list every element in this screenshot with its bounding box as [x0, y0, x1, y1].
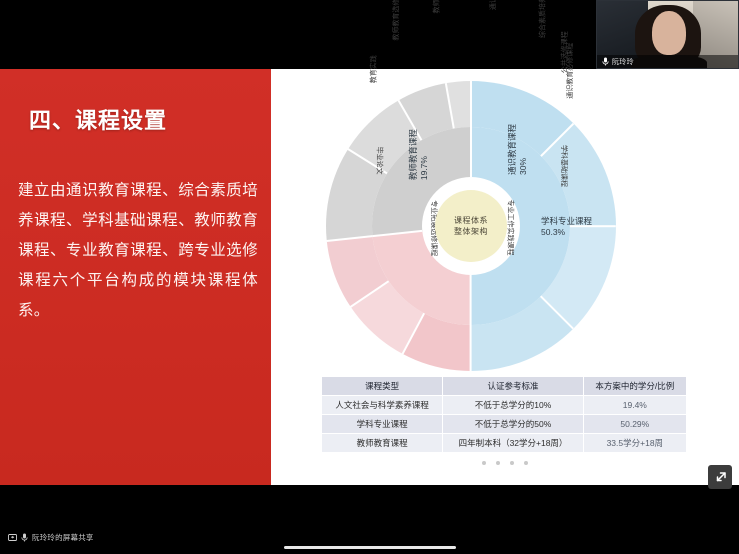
slide-right-panel: 学科基础课程 专业工作实践课程 专业拓展选修课程 毕业论文 教育实践 教师教育选…	[271, 69, 739, 485]
table-row: 教师教育课程 四年制本科（32学分+18周） 33.5学分+18周	[322, 434, 687, 453]
course-system-sunburst-chart: 学科基础课程 专业工作实践课程 专业拓展选修课程 毕业论文 教育实践 教师教育选…	[326, 81, 616, 371]
sunburst-center-hub: 课程体系 整体架构	[435, 190, 507, 262]
table-cell-r0c2: 19.4%	[583, 396, 686, 415]
table-header-cell-0: 课程类型	[322, 377, 443, 396]
expand-arrow-icon[interactable]	[708, 465, 732, 489]
share-status[interactable]: 阮玲玲的屏幕共享	[8, 532, 94, 543]
microphone-icon	[602, 57, 609, 66]
pager-dot-2[interactable]	[510, 461, 514, 465]
slide-left-panel: 四、课程设置 建立由通识教育课程、综合素质培养课程、学科基础课程、教师教育课程、…	[0, 69, 271, 485]
hub-line-2: 整体架构	[454, 226, 488, 237]
slide-title: 四、课程设置	[29, 103, 167, 135]
table-cell-r1c1: 不低于总学分的50%	[443, 415, 583, 434]
home-indicator	[284, 546, 456, 549]
selfview-participant-name: 阮玲玲	[612, 57, 634, 67]
app-root: 阮玲玲 四、课程设置 建立由通识教育课程、综合素质培养课程、学科基础课程、教师教…	[0, 0, 739, 554]
table-header-cell-2: 本方案中的学分/比例	[583, 377, 686, 396]
microphone-icon	[21, 533, 28, 542]
slide-body-text: 建立由通识教育课程、综合素质培养课程、学科基础课程、教师教育课程、专业教育课程、…	[18, 176, 258, 326]
hub-line-1: 课程体系	[454, 215, 488, 226]
table-cell-r2c1: 四年制本科（32学分+18周）	[443, 434, 583, 453]
table-cell-r2c2: 33.5学分+18周	[583, 434, 686, 453]
table-header-cell-1: 认证参考标准	[443, 377, 583, 396]
table-row: 人文社会与科学素养课程 不低于总学分的10% 19.4%	[322, 396, 687, 415]
course-standards-table: 课程类型 认证参考标准 本方案中的学分/比例 人文社会与科学素养课程 不低于总学…	[321, 376, 687, 453]
pager-dot-3[interactable]	[524, 461, 528, 465]
table-cell-r2c0: 教师教育课程	[322, 434, 443, 453]
share-status-text: 阮玲玲的屏幕共享	[32, 532, 94, 543]
table-cell-r1c2: 50.29%	[583, 415, 686, 434]
selfview-name-bar: 阮玲玲	[597, 55, 738, 68]
shared-screen-stage: 四、课程设置 建立由通识教育课程、综合素质培养课程、学科基础课程、教师教育课程、…	[0, 69, 739, 485]
table-header-row: 课程类型 认证参考标准 本方案中的学分/比例	[322, 377, 687, 396]
table-row: 学科专业课程 不低于总学分的50% 50.29%	[322, 415, 687, 434]
selfview-video-tile[interactable]: 阮玲玲	[596, 0, 739, 69]
screen-share-icon	[8, 534, 17, 542]
pager-dot-0[interactable]	[482, 461, 486, 465]
table-cell-r0c0: 人文社会与科学素养课程	[322, 396, 443, 415]
slide-pager[interactable]	[271, 461, 739, 465]
table-cell-r0c1: 不低于总学分的10%	[443, 396, 583, 415]
bottom-bar: 阮玲玲的屏幕共享	[0, 524, 739, 554]
table-cell-r1c0: 学科专业课程	[322, 415, 443, 434]
pager-dot-1[interactable]	[496, 461, 500, 465]
